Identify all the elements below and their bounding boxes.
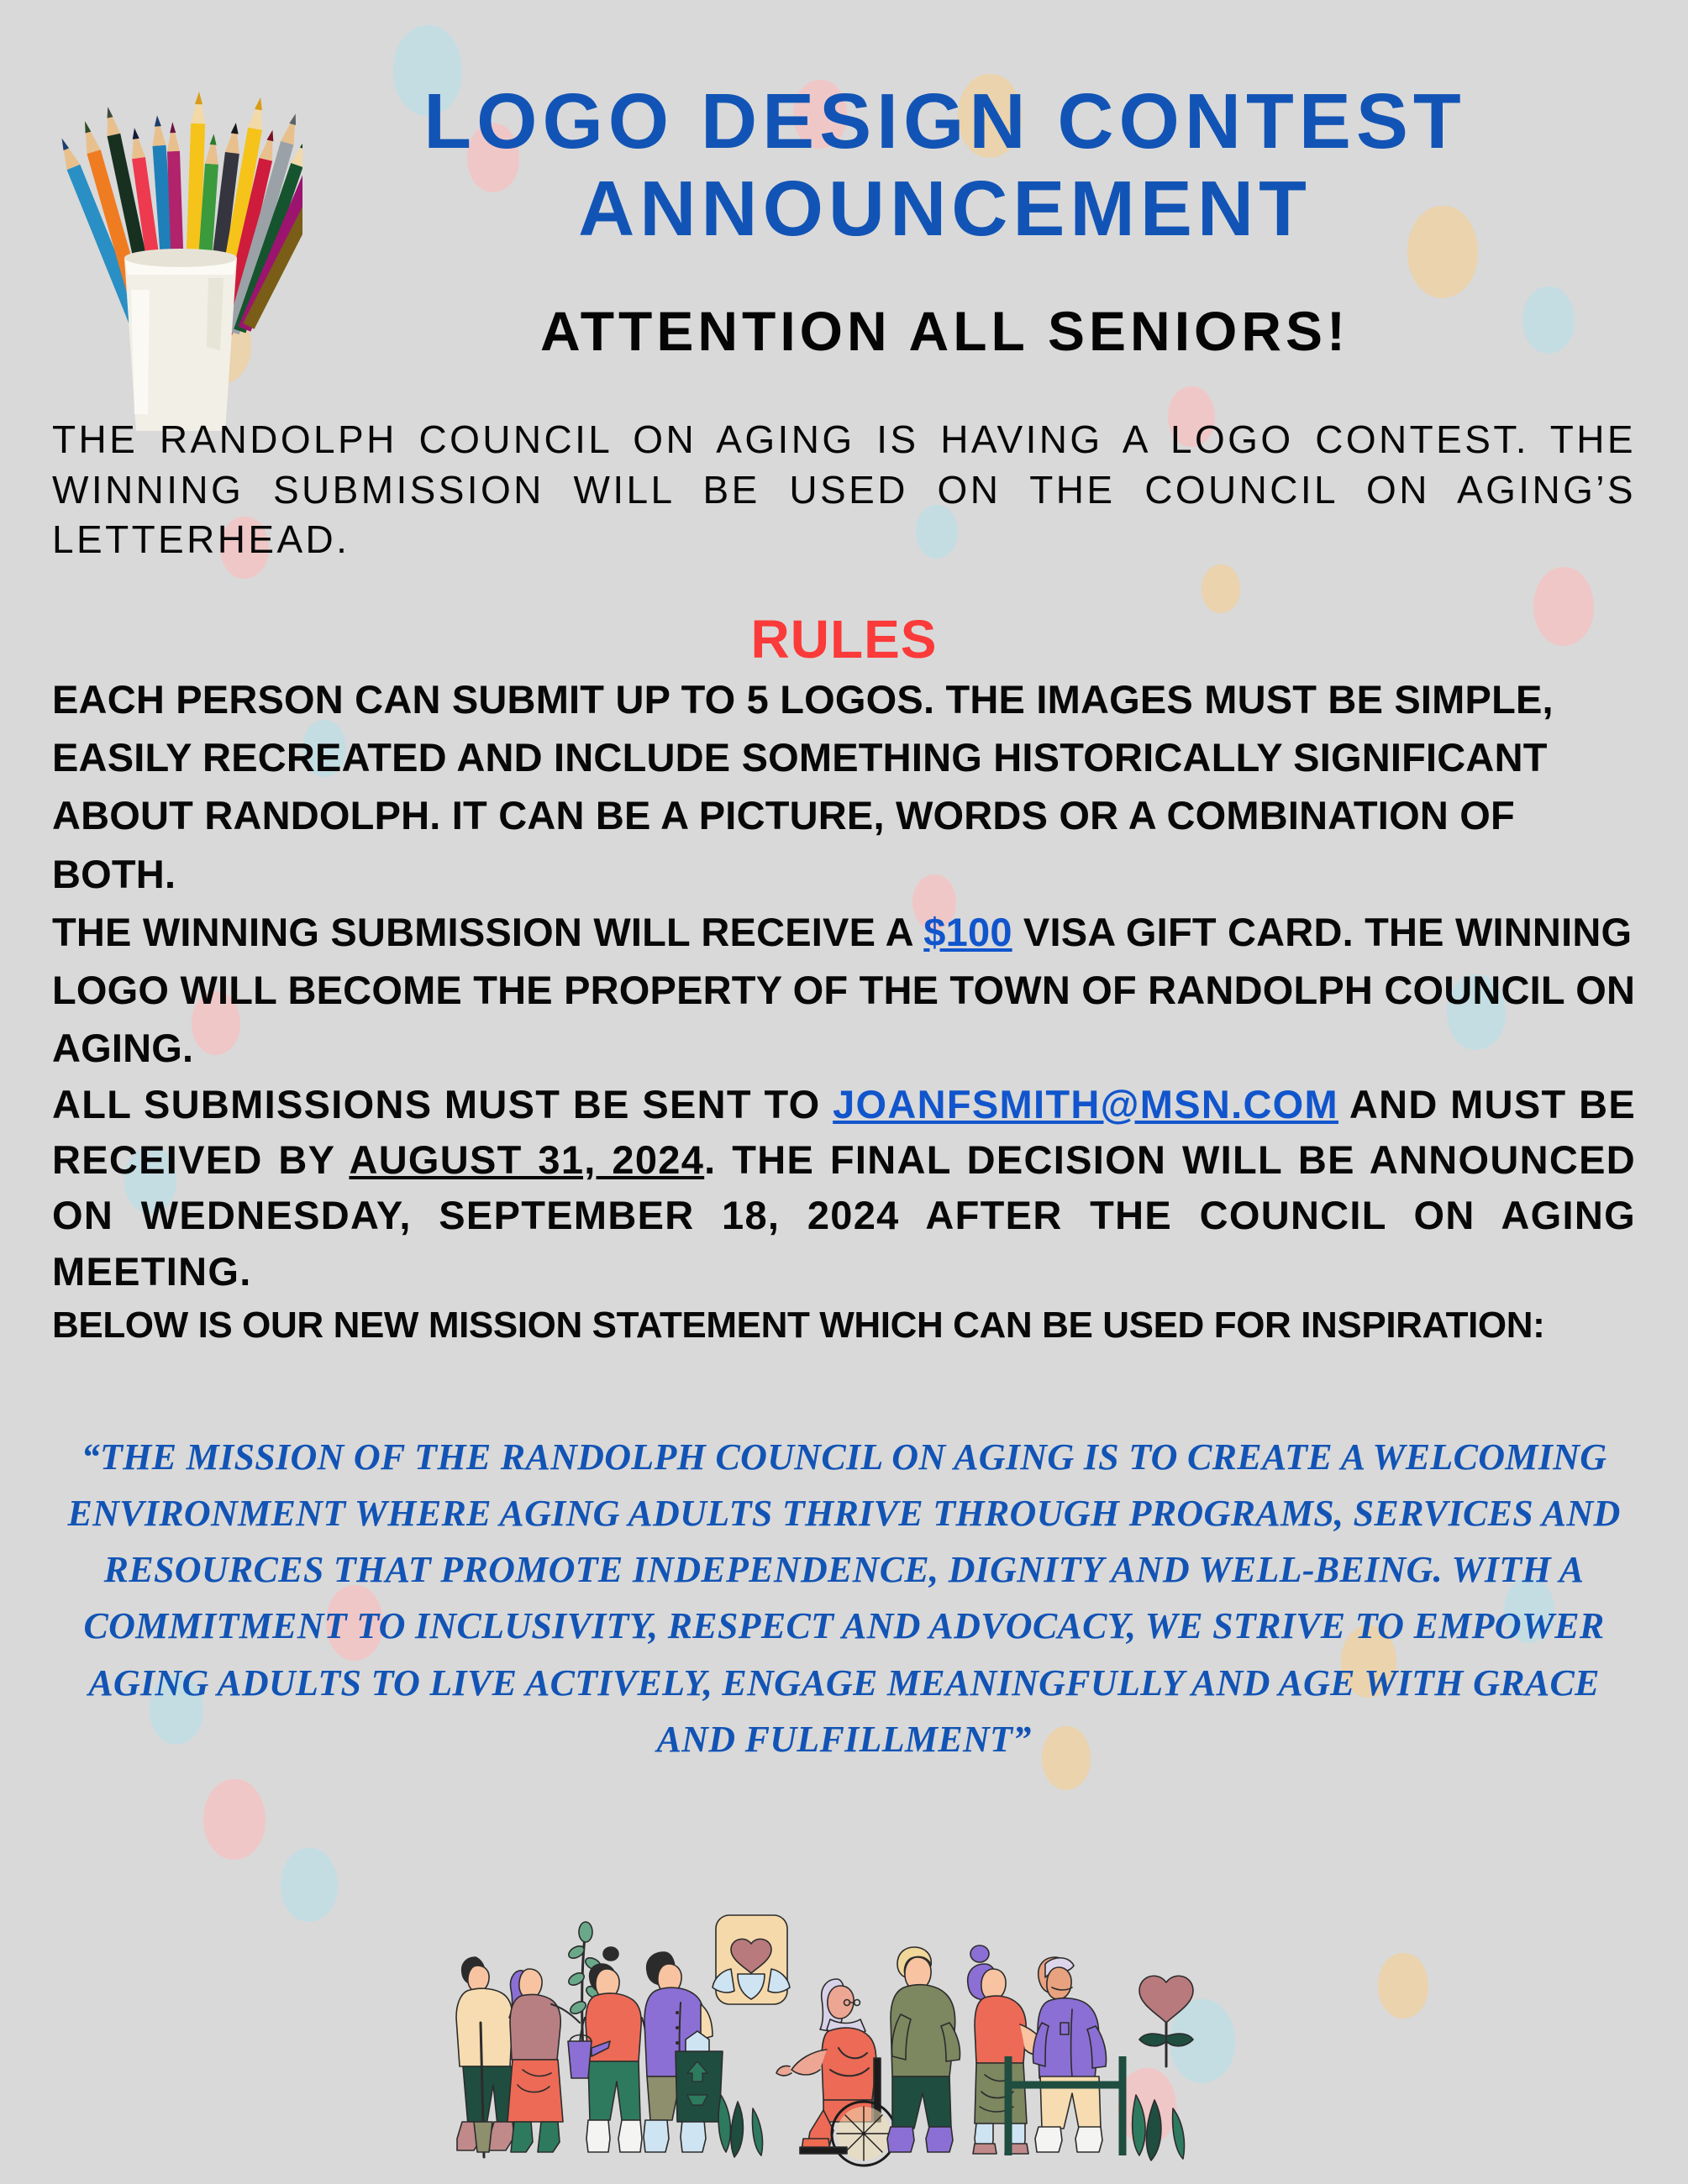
blob-beige-5 <box>1378 1953 1428 2019</box>
poster-content: LOGO DESIGN CONTEST ANNOUNCEMENT ATTENTI… <box>0 0 1688 1767</box>
person-purple-hair <box>507 1969 580 2152</box>
submission-deadline: AUGUST 31, 2024 <box>349 1137 704 1182</box>
plant-right <box>1133 2095 1185 2160</box>
person-wheelchair <box>776 1979 896 2166</box>
prize-amount-link[interactable]: $100 <box>923 910 1012 954</box>
inspiration-paragraph: BELOW IS OUR NEW MISSION STATEMENT WHICH… <box>52 1299 1636 1352</box>
rules-paragraph: EACH PERSON CAN SUBMIT UP TO 5 LOGOS. TH… <box>52 670 1636 902</box>
prize-text-before: THE WINNING SUBMISSION WILL RECEIVE A <box>52 910 923 954</box>
person-olive-sweater <box>887 1947 960 2152</box>
title-block: LOGO DESIGN CONTEST ANNOUNCEMENT ATTENTI… <box>0 0 1688 363</box>
submission-text-before: ALL SUBMISSIONS MUST BE SENT TO <box>52 1082 833 1126</box>
intro-paragraph: THE RANDOLPH COUNCIL ON AGING IS HAVING … <box>52 415 1636 564</box>
person-tan-shirt <box>456 1957 516 2157</box>
submission-paragraph: ALL SUBMISSIONS MUST BE SENT TO JOANFSMI… <box>52 1077 1636 1299</box>
heart-flower <box>1139 1976 1193 2066</box>
blob-blue-8 <box>281 1848 338 1922</box>
heart-in-hands-poster <box>713 1915 790 2004</box>
community-people-illustration <box>420 1905 1277 2182</box>
page-title: LOGO DESIGN CONTEST ANNOUNCEMENT <box>286 77 1604 252</box>
rules-heading: RULES <box>52 608 1636 670</box>
body-area: THE RANDOLPH COUNCIL ON AGING IS HAVING … <box>0 415 1688 1351</box>
prize-paragraph: THE WINNING SUBMISSION WILL RECEIVE A $1… <box>52 903 1636 1077</box>
submission-email-link[interactable]: JOANFSMITH@MSN.COM <box>833 1082 1338 1126</box>
plant-left <box>718 2095 762 2157</box>
poster-canvas: LOGO DESIGN CONTEST ANNOUNCEMENT ATTENTI… <box>0 0 1688 2184</box>
page-subtitle: ATTENTION ALL SENIORS! <box>286 299 1604 363</box>
blob-pink-9 <box>203 1779 266 1860</box>
mission-statement: “THE MISSION OF THE RANDOLPH COUNCIL ON … <box>46 1429 1642 1768</box>
